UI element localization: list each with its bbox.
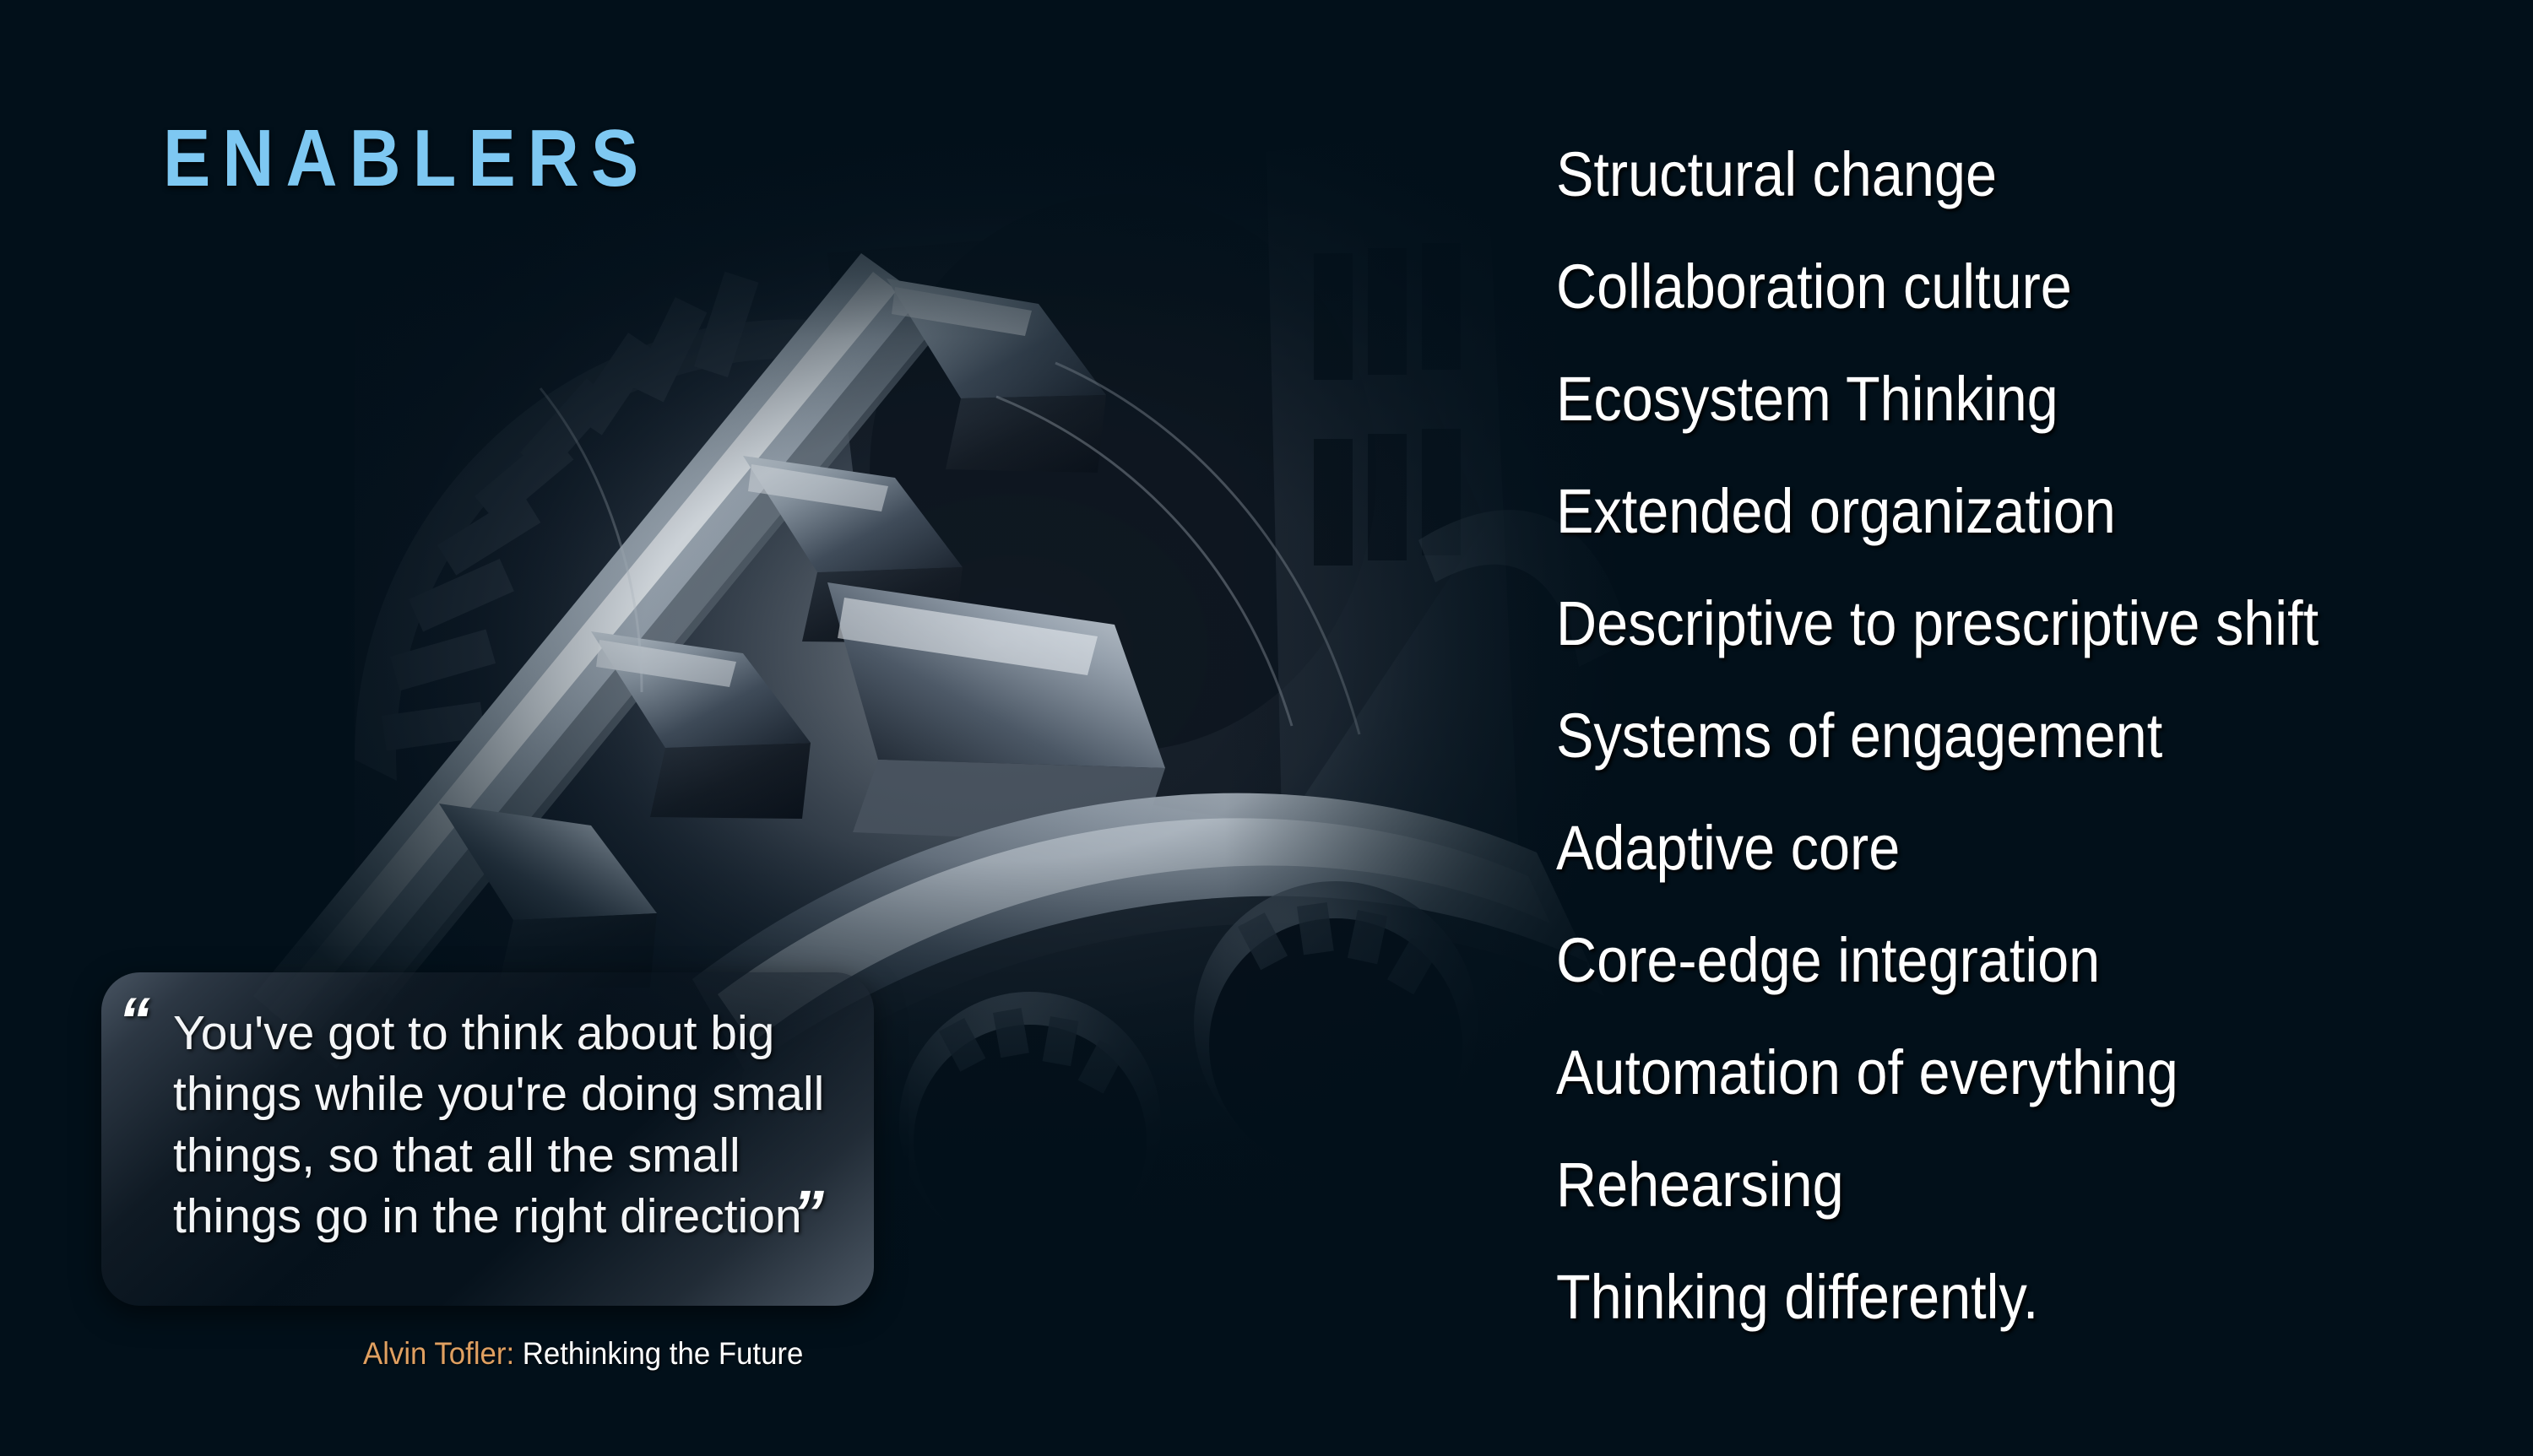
list-item: Structural change xyxy=(1556,118,2407,230)
enablers-list: Structural change Collaboration culture … xyxy=(1556,118,2502,1353)
quote-text: You've got to think about big things whi… xyxy=(173,1003,857,1248)
list-item: Thinking differently. xyxy=(1556,1241,2407,1353)
close-quote-icon: ” xyxy=(792,1182,824,1246)
page-title: ENABLERS xyxy=(163,118,650,199)
quote-attribution: Alvin Tofler: Rethinking the Future xyxy=(363,1338,803,1369)
list-item: Collaboration culture xyxy=(1556,230,2407,343)
list-item: Extended organization xyxy=(1556,455,2407,567)
list-item: Core-edge integration xyxy=(1556,904,2407,1016)
open-quote-icon: “ xyxy=(118,989,150,1053)
list-item: Adaptive core xyxy=(1556,792,2407,904)
list-item: Automation of everything xyxy=(1556,1016,2407,1129)
list-item: Systems of engagement xyxy=(1556,679,2407,792)
list-item: Rehearsing xyxy=(1556,1129,2407,1241)
list-item: Descriptive to prescriptive shift xyxy=(1556,567,2407,679)
list-item: Ecosystem Thinking xyxy=(1556,343,2407,455)
attribution-source: Rethinking the Future xyxy=(523,1336,804,1371)
attribution-author: Alvin Tofler: xyxy=(363,1336,514,1371)
presentation-slide: ENABLERS Structural change Collaboration… xyxy=(0,0,2533,1456)
